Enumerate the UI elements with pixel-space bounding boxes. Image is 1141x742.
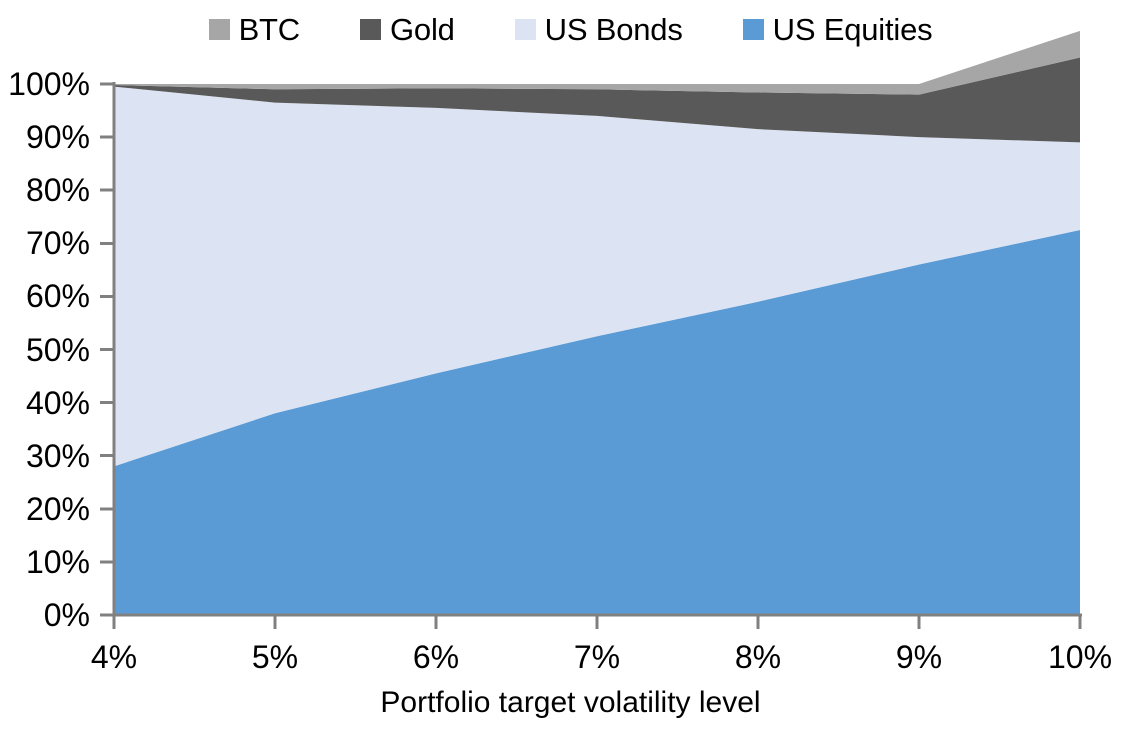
x-tick-label: 8% [735, 641, 781, 673]
y-tick-label: 10% [0, 546, 90, 578]
y-tick-label: 100% [0, 68, 90, 100]
x-tick-label: 7% [574, 641, 620, 673]
plot-area: 0%10%20%30%40%50%60%70%80%90%100% 4%5%6%… [0, 0, 1141, 742]
x-tick-label: 9% [896, 641, 942, 673]
x-tick-label: 10% [1048, 641, 1112, 673]
plot-svg [0, 0, 1141, 742]
x-tick-label: 4% [91, 641, 137, 673]
y-tick-label: 20% [0, 493, 90, 525]
y-tick-label: 90% [0, 121, 90, 153]
y-tick-label: 70% [0, 227, 90, 259]
area-series-btc [114, 31, 1080, 95]
y-tick-label: 60% [0, 280, 90, 312]
y-tick-label: 40% [0, 387, 90, 419]
y-tick-label: 80% [0, 174, 90, 206]
area-series-layer [114, 31, 1080, 615]
x-axis-title: Portfolio target volatility level [0, 686, 1141, 720]
y-tick-label: 0% [0, 599, 90, 631]
x-tick-label: 5% [252, 641, 298, 673]
x-tick-label: 6% [413, 641, 459, 673]
y-tick-label: 50% [0, 334, 90, 366]
chart-container: BTC Gold US Bonds US Equities 0%10%20%30… [0, 0, 1141, 742]
y-tick-label: 30% [0, 440, 90, 472]
